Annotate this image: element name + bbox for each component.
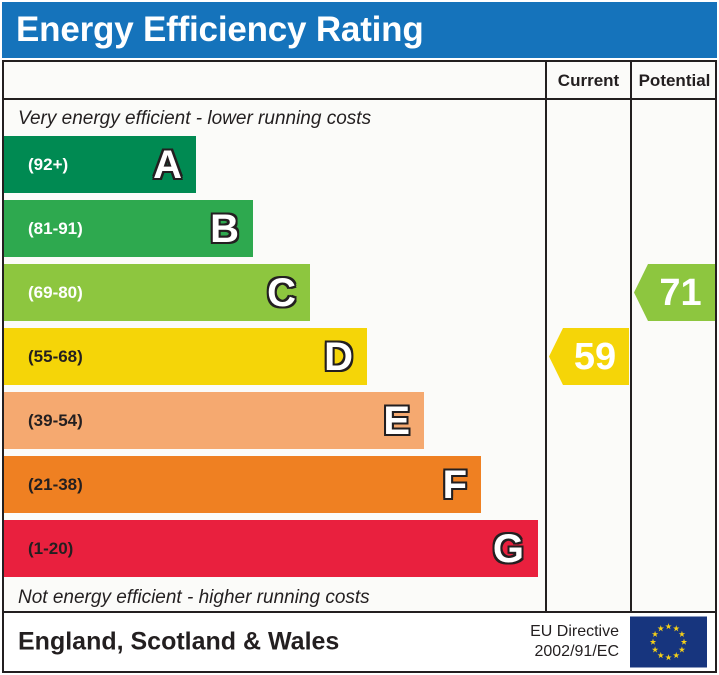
column-divider-current xyxy=(545,62,547,611)
eu-flag-icon xyxy=(630,617,707,668)
band-letter-b: B xyxy=(210,209,239,249)
band-range-e: (39-54) xyxy=(28,411,83,431)
rating-value-potential: 71 xyxy=(647,274,701,312)
column-divider-potential xyxy=(630,62,632,611)
band-bar-f: (21-38)F xyxy=(4,456,481,513)
eu-directive-text: EU Directive 2002/91/EC xyxy=(530,622,619,662)
band-letter-g: G xyxy=(493,529,524,569)
rating-arrow-potential: 71 xyxy=(634,264,715,321)
band-range-d: (55-68) xyxy=(28,347,83,367)
band-letter-d: D xyxy=(324,337,353,377)
band-letter-c: C xyxy=(267,273,296,313)
band-range-b: (81-91) xyxy=(28,219,83,239)
band-bar-g: (1-20)G xyxy=(4,520,538,577)
band-bar-e: (39-54)E xyxy=(4,392,424,449)
footer: England, Scotland & Wales EU Directive 2… xyxy=(2,613,717,673)
caption-efficient: Very energy efficient - lower running co… xyxy=(18,108,371,130)
band-bar-c: (69-80)C xyxy=(4,264,310,321)
band-range-c: (69-80) xyxy=(28,283,83,303)
rating-value-current: 59 xyxy=(562,338,616,376)
column-header-potential: Potential xyxy=(632,62,717,100)
footer-region-label: England, Scotland & Wales xyxy=(18,628,339,657)
eu-directive-line2: 2002/91/EC xyxy=(530,642,619,662)
eu-directive-line1: EU Directive xyxy=(530,622,619,642)
band-letter-f: F xyxy=(443,465,467,505)
caption-not-efficient: Not energy efficient - higher running co… xyxy=(18,587,370,609)
band-letter-a: A xyxy=(153,145,182,185)
page-title: Energy Efficiency Rating xyxy=(16,10,424,50)
band-bar-b: (81-91)B xyxy=(4,200,253,257)
band-bar-d: (55-68)D xyxy=(4,328,367,385)
band-letter-e: E xyxy=(383,401,410,441)
band-range-g: (1-20) xyxy=(28,539,73,559)
band-range-f: (21-38) xyxy=(28,475,83,495)
title-bar: Energy Efficiency Rating xyxy=(2,2,717,58)
rating-arrow-current: 59 xyxy=(549,328,629,385)
column-header-current: Current xyxy=(547,62,630,100)
rating-bands: (92+)A(81-91)B(69-80)C(55-68)D(39-54)E(2… xyxy=(4,136,545,581)
band-range-a: (92+) xyxy=(28,155,68,175)
band-bar-a: (92+)A xyxy=(4,136,196,193)
energy-efficiency-rating-chart: Energy Efficiency Rating Current Potenti… xyxy=(0,0,719,675)
rating-table: Current Potential Very energy efficient … xyxy=(2,60,717,613)
